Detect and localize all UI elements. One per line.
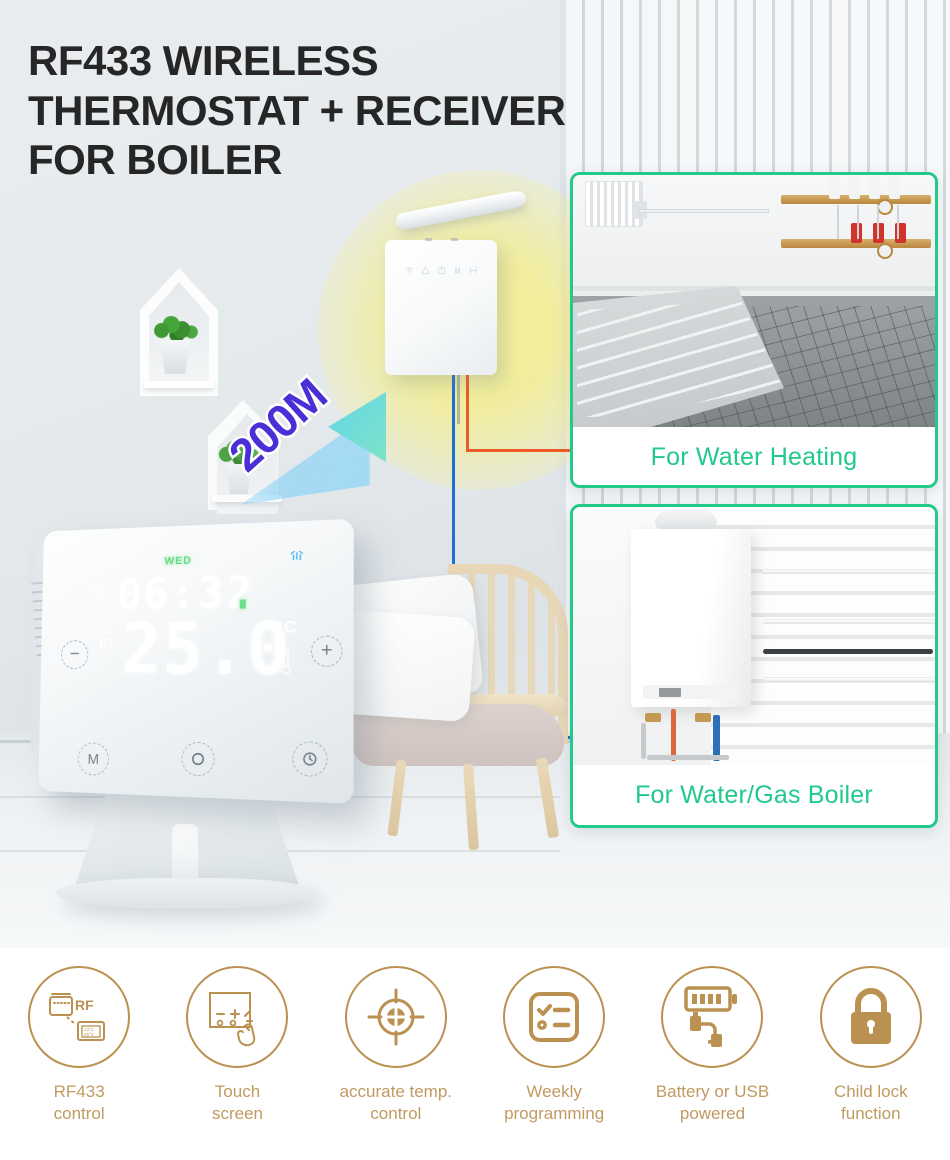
feature-icon-circle: [820, 966, 922, 1068]
manifold-knob: [829, 177, 840, 199]
thermostat-lcd: WED 06:32 RT 25.0 °C: [70, 549, 328, 746]
feature-accurate-temp-control: accurate temp. control: [317, 966, 475, 1125]
receiver-cable-orange: [466, 374, 469, 452]
wifi-icon: [405, 266, 414, 275]
boiler-control-panel: [643, 685, 739, 699]
feature-rf433-control: RF 13°C 25°C RF433 control: [0, 966, 158, 1125]
receiver-body: [385, 240, 497, 375]
feature-label: Child lock function: [796, 1081, 946, 1125]
lcd-unit: °C: [277, 617, 297, 638]
increase-temp-button[interactable]: +: [311, 636, 343, 667]
battery-usb-icon: [681, 984, 743, 1050]
feature-label-line-2: screen: [162, 1103, 312, 1125]
child-lock-icon: [845, 986, 897, 1048]
svg-text:RF: RF: [75, 997, 94, 1013]
thermostat-stand-base: [56, 878, 318, 908]
boiler-pipework: [635, 705, 759, 763]
gas-boiler-image: [573, 507, 935, 765]
feature-weekly-programming: Weekly programming: [475, 966, 633, 1125]
feature-label: Weekly programming: [479, 1081, 629, 1125]
wall-shelf-house: [140, 268, 218, 396]
hero-scene: 200M WED: [0, 0, 950, 948]
feature-label: Touch screen: [162, 1081, 312, 1125]
feature-label-line-2: programming: [479, 1103, 629, 1125]
panel-water-gas-boiler-label: For Water/Gas Boiler: [573, 765, 935, 825]
feature-label: Battery or USB powered: [637, 1081, 787, 1125]
timer-button[interactable]: [292, 741, 327, 776]
receiver-cable-grey: [457, 374, 460, 424]
manifold-knob: [849, 177, 860, 199]
feature-label-line-1: accurate temp.: [321, 1081, 471, 1103]
feature-label-line-2: control: [321, 1103, 471, 1125]
thermostat-button-row: M: [78, 741, 328, 776]
manifold-tube: [897, 205, 899, 239]
lcd-room-temp-label: RT: [99, 636, 115, 650]
gas-boiler-unit: [631, 529, 751, 707]
accurate-temp-icon: [365, 986, 427, 1048]
rf-receiver-unit: [385, 240, 497, 375]
pressure-gauge: [877, 199, 893, 215]
feature-child-lock: Child lock function: [792, 966, 950, 1125]
wall-pipe: [763, 619, 935, 624]
pause-icon: [453, 266, 462, 275]
brass-fitting: [645, 713, 661, 722]
headline-line-2: THERMOSTAT + RECEIVER: [28, 86, 566, 136]
pipe-grey: [641, 723, 646, 759]
manifold-tube: [837, 205, 839, 239]
feature-icon-circle: [661, 966, 763, 1068]
panel-water-gas-boiler: For Water/Gas Boiler: [570, 504, 938, 828]
manifold-knob: [889, 177, 900, 199]
manifold-tube: [877, 205, 879, 239]
manifold-tube: [857, 205, 859, 239]
lcd-weekday: WED: [164, 555, 192, 568]
brass-fitting: [695, 713, 711, 722]
wall-pipe: [763, 677, 935, 682]
thermostat-stand-clip: [172, 824, 198, 886]
feature-label-line-2: function: [796, 1103, 946, 1125]
power-button[interactable]: [182, 742, 215, 776]
feature-icon-circle: [345, 966, 447, 1068]
thermometer-icon: [280, 647, 293, 676]
feature-label-line-1: Weekly: [479, 1081, 629, 1103]
feature-label-line-1: RF433: [4, 1081, 154, 1103]
pipe-orange: [671, 709, 676, 761]
ufh-scene: [573, 175, 935, 427]
wall-pipe: [763, 569, 935, 574]
headline-line-1: RF433 WIRELESS: [28, 36, 566, 86]
feature-label-line-2: control: [4, 1103, 154, 1125]
plant-leaves: [152, 314, 200, 344]
receiver-indicator-row: [385, 266, 497, 275]
feature-touch-screen: Touch screen: [158, 966, 316, 1125]
clock-icon: [89, 582, 108, 602]
touch-screen-icon: [204, 987, 270, 1047]
boiler-display: [659, 688, 681, 697]
chair-leg: [463, 764, 479, 850]
headline-line-3: FOR BOILER: [28, 135, 566, 185]
decrease-temp-button[interactable]: −: [61, 640, 89, 669]
feature-icon-circle: [503, 966, 605, 1068]
receiver-tab: [425, 238, 432, 241]
thermostat-device: WED 06:32 RT 25.0 °C: [22, 516, 370, 916]
page-title: RF433 WIRELESS THERMOSTAT + RECEIVER FOR…: [28, 36, 566, 185]
chair-leg: [387, 760, 406, 837]
panel-water-heating-label: For Water Heating: [573, 427, 935, 487]
pressure-gauge: [877, 243, 893, 259]
svg-text:25°C: 25°C: [84, 1032, 95, 1037]
shelf-ledge: [144, 381, 214, 388]
feature-strip: RF 13°C 25°C RF433 control: [0, 948, 950, 1160]
feature-icon-circle: [186, 966, 288, 1068]
boiler-scene: [573, 507, 935, 765]
rf-control-icon: RF 13°C 25°C: [45, 988, 113, 1046]
product-marketing-page: 200M WED: [0, 0, 950, 1160]
feature-icon-circle: RF 13°C 25°C: [28, 966, 130, 1068]
power-icon: [437, 266, 446, 275]
underfloor-heating-image: [573, 175, 935, 427]
chair-leg: [536, 758, 559, 839]
feature-label: accurate temp. control: [321, 1081, 471, 1125]
weekly-program-icon: [525, 988, 583, 1046]
feature-label-line-1: Touch: [162, 1081, 312, 1103]
feature-label-line-2: powered: [637, 1103, 787, 1125]
feature-label-line-1: Child lock: [796, 1081, 946, 1103]
lcd-temperature: 25.0: [121, 613, 291, 685]
gas-pipe: [763, 649, 933, 654]
pipe-grey: [647, 755, 729, 760]
feature-battery-usb-powered: Battery or USB powered: [633, 966, 791, 1125]
plant-pot: [160, 340, 190, 374]
heating-manifold: [781, 177, 931, 277]
feature-label: RF433 control: [4, 1081, 154, 1125]
manifold-knob: [869, 177, 880, 199]
flame-icon: [469, 266, 478, 275]
mode-button[interactable]: M: [78, 742, 109, 775]
skirting: [573, 286, 935, 291]
alert-icon: [421, 266, 430, 275]
receiver-tab: [451, 238, 458, 241]
panel-water-heating: For Water Heating: [570, 172, 938, 488]
supply-pipe: [639, 209, 769, 213]
feature-label-line-1: Battery or USB: [637, 1081, 787, 1103]
receiver-cable-orange-branch: [466, 449, 578, 452]
rf-signal-icon: [289, 550, 306, 565]
